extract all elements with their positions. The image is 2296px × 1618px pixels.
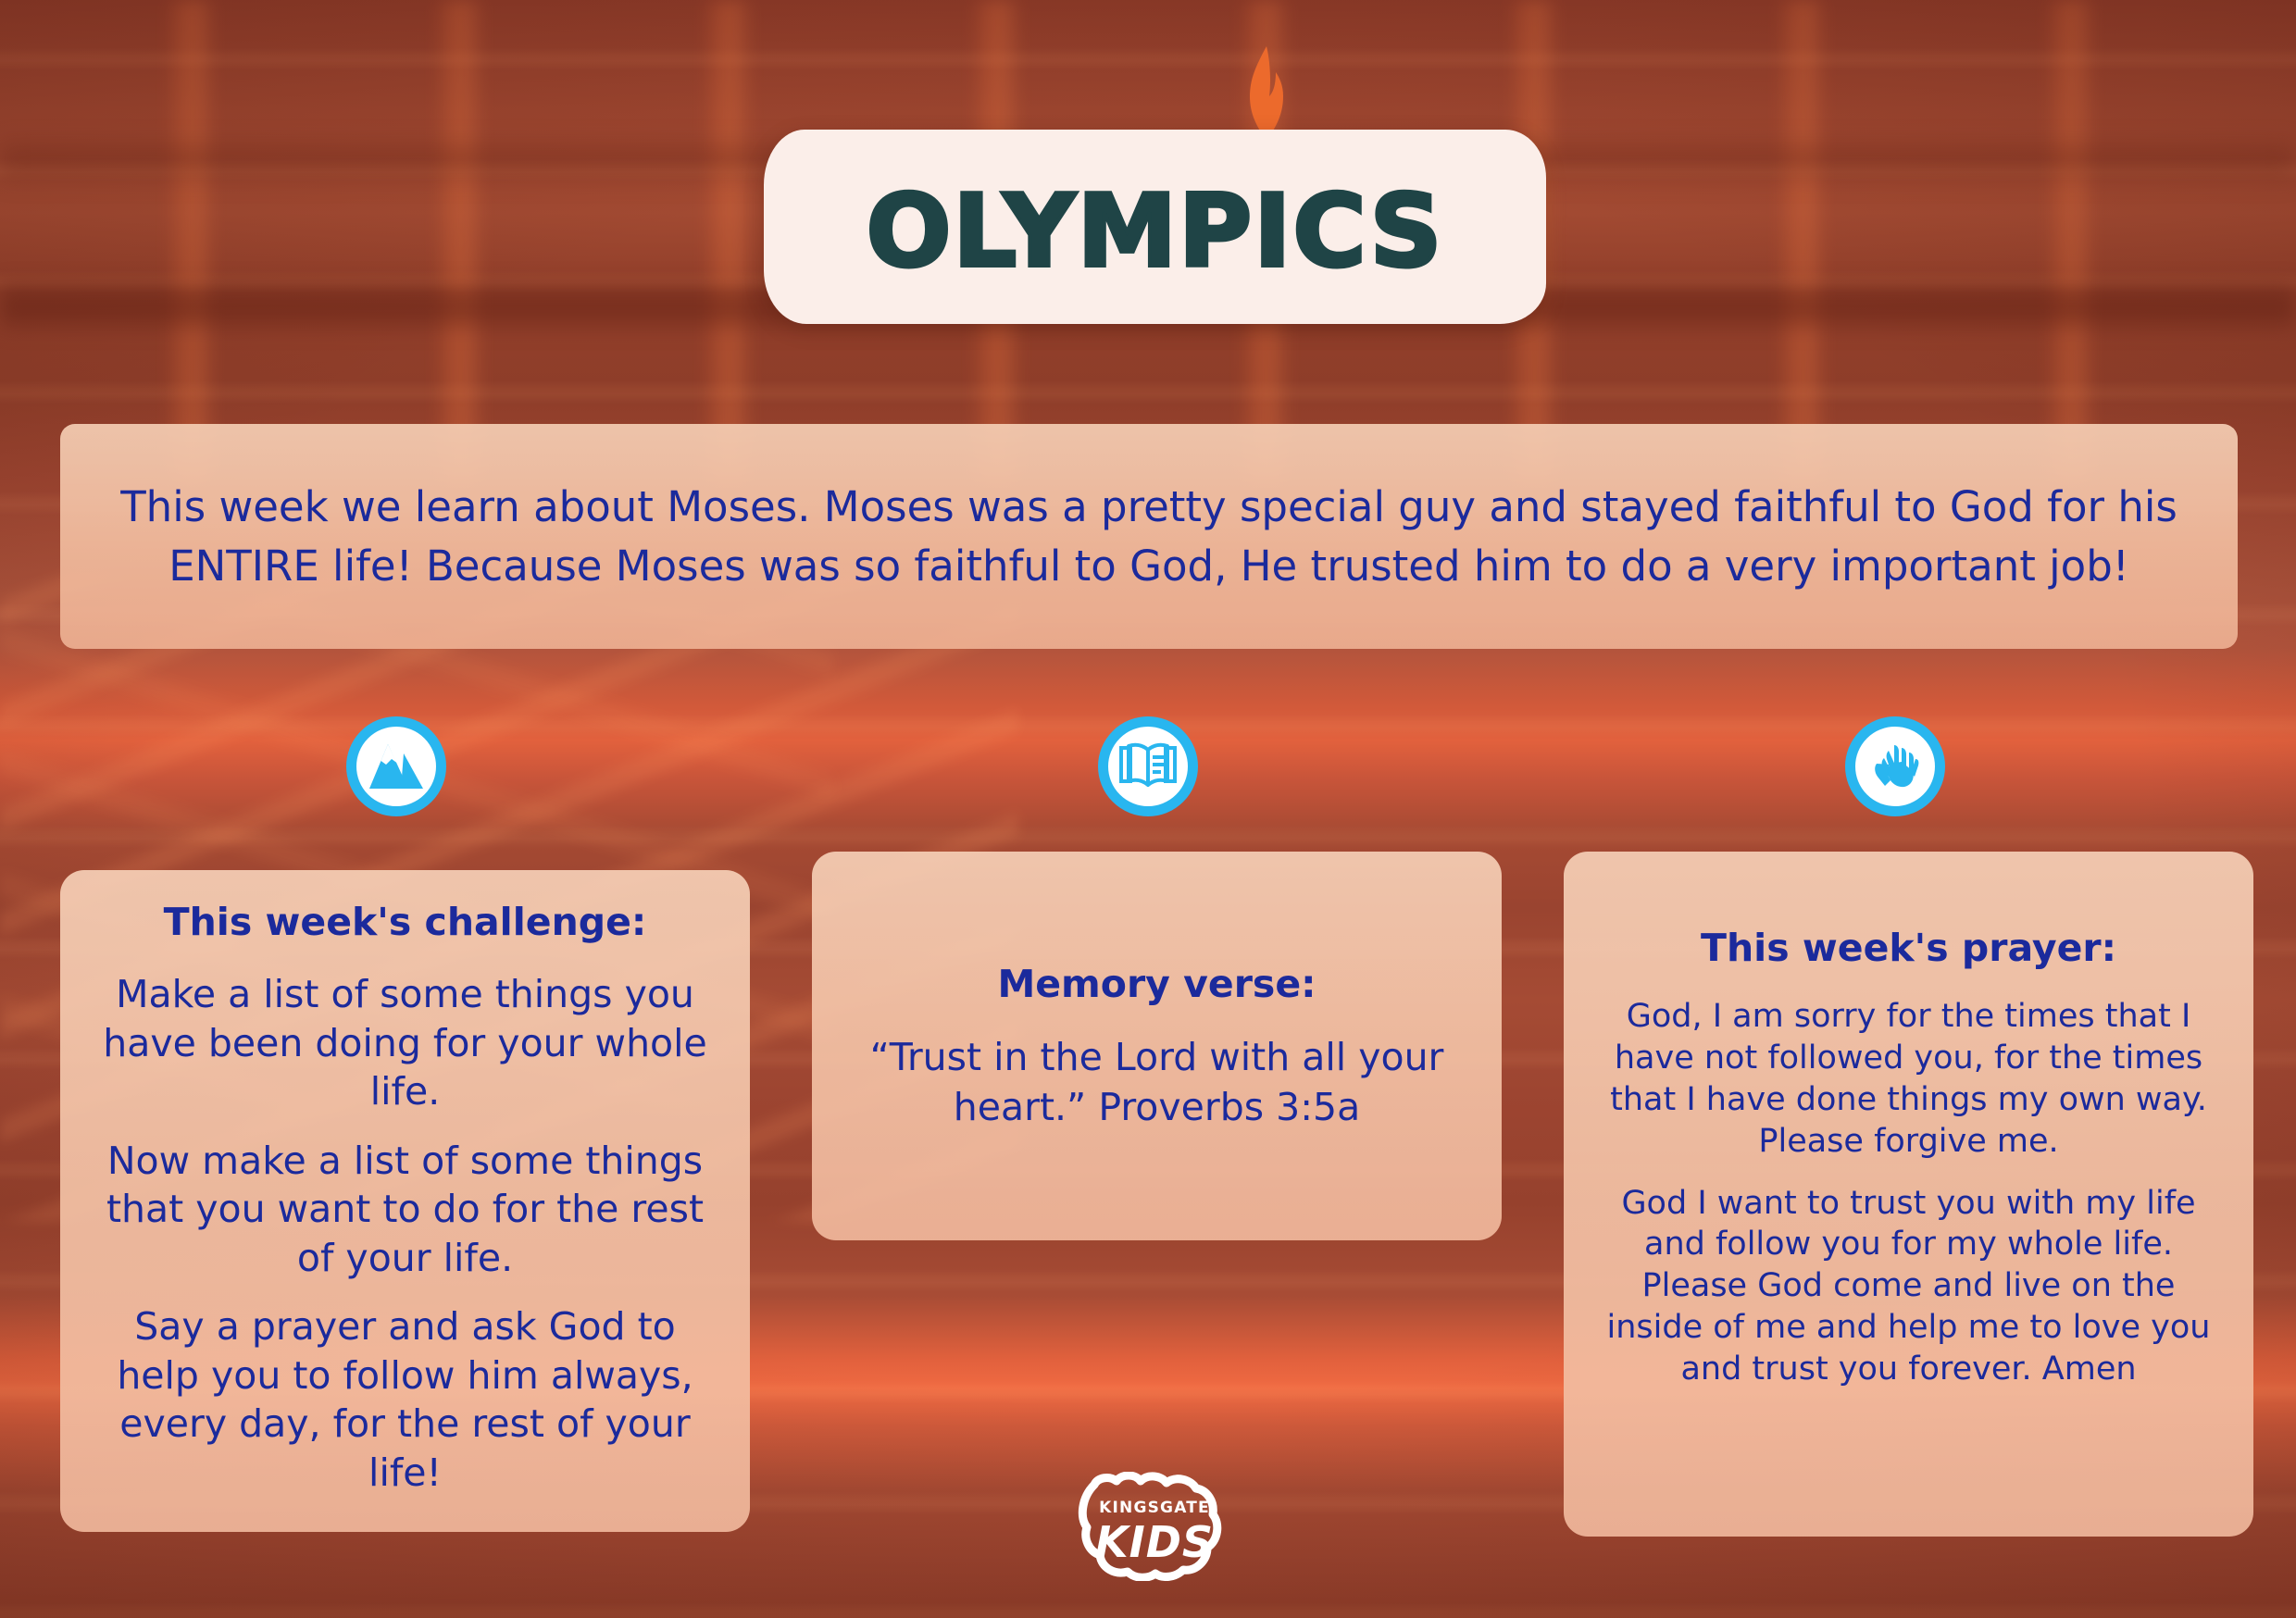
card-prayer: This week's prayer: God, I am sorry for …: [1564, 852, 2253, 1537]
card-memory-verse: Memory verse: “Trust in the Lord with al…: [812, 852, 1502, 1240]
card-challenge: This week's challenge: Make a list of so…: [60, 870, 750, 1532]
prayer-paragraph: God I want to trust you with my life and…: [1597, 1183, 2220, 1390]
logo-top-text: KINGSGATE: [1099, 1499, 1210, 1517]
kingsgate-kids-logo-icon: KINGSGATE KIDS: [1067, 1472, 1242, 1581]
intro-panel: This week we learn about Moses. Moses wa…: [60, 424, 2238, 649]
prayer-paragraph: God, I am sorry for the times that I hav…: [1597, 996, 2220, 1162]
verse-heading: Memory verse:: [845, 960, 1468, 1009]
open-book-icon: [1117, 741, 1179, 792]
badge-memory-verse: [1098, 716, 1198, 816]
challenge-paragraph: Now make a list of some things that you …: [94, 1137, 717, 1282]
page-title: OLYMPICS: [867, 182, 1444, 282]
intro-text: This week we learn about Moses. Moses wa…: [99, 478, 2199, 596]
challenge-paragraph: Make a list of some things you have been…: [94, 970, 717, 1115]
poster-canvas: OLYMPICS This week we learn about Moses.…: [0, 0, 2296, 1618]
kingsgate-kids-logo: KINGSGATE KIDS: [1067, 1472, 1242, 1581]
logo-main-text: KIDS: [1095, 1517, 1214, 1567]
challenge-heading: This week's challenge:: [94, 898, 717, 946]
verse-paragraph: “Trust in the Lord with all your heart.”…: [845, 1033, 1468, 1132]
badge-challenge: [346, 716, 446, 816]
praying-hands-icon: [1866, 740, 1924, 793]
challenge-paragraph: Say a prayer and ask God to help you to …: [94, 1302, 717, 1497]
title-banner: OLYMPICS: [764, 130, 1546, 324]
prayer-heading: This week's prayer:: [1597, 924, 2220, 972]
badge-prayer: [1845, 716, 1945, 816]
mountain-icon: [368, 741, 425, 792]
